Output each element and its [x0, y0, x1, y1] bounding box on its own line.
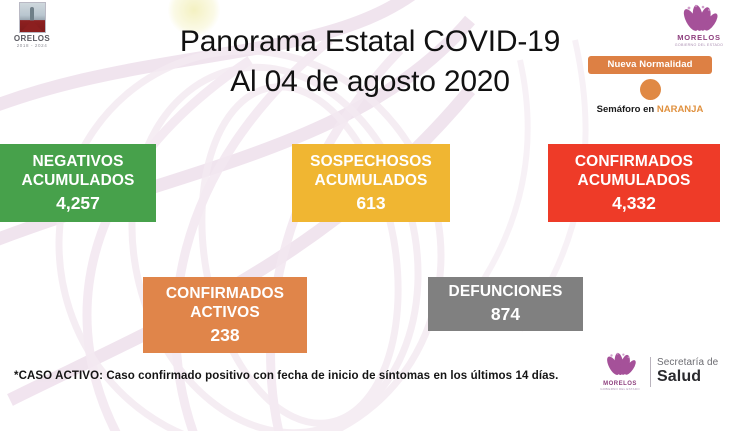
- semaforo-status-label: Semáforo en NARANJA: [588, 104, 712, 115]
- stat-card-confirmados-activos: CONFIRMADOS ACTIVOS 238: [143, 277, 307, 353]
- stat-value: 4,257: [56, 192, 100, 215]
- stat-card-negativos: NEGATIVOS ACUMULADOS 4,257: [0, 144, 156, 222]
- stat-label-line-1: CONFIRMADOS: [575, 152, 693, 171]
- secretaria-de-salud-logo: MORELOS GOBIERNO DEL ESTADO Secretaría d…: [596, 352, 718, 391]
- morelos-flower-logo-icon: [603, 352, 637, 376]
- semaforo-dot-icon: [640, 79, 661, 100]
- semaforo-color-value: NARANJA: [657, 104, 703, 115]
- stat-label-line-2: ACTIVOS: [190, 303, 260, 322]
- stat-card-sospechosos: SOSPECHOSOS ACUMULADOS 613: [292, 144, 450, 222]
- semaforo-prefix: Semáforo en: [597, 104, 655, 115]
- covid-dashboard-slide: ORELOS 2018 - 2024 MORELOS GOBIERNO DEL …: [0, 0, 740, 431]
- salud-line-1: Secretaría de: [657, 357, 718, 368]
- semaforo-widget: Nueva Normalidad Semáforo en NARANJA: [588, 56, 712, 115]
- stat-label-line-1: NEGATIVOS: [32, 152, 123, 171]
- nueva-normalidad-badge: Nueva Normalidad: [588, 56, 712, 74]
- stat-label-line-2: ACUMULADOS: [315, 171, 428, 190]
- stat-value: 613: [356, 192, 385, 215]
- stat-value: 4,332: [612, 192, 656, 215]
- logo-divider: [650, 357, 651, 387]
- stat-card-defunciones: DEFUNCIONES 874: [428, 277, 583, 331]
- stat-label-line-1: SOSPECHOSOS: [310, 152, 432, 171]
- salud-text-block: Secretaría de Salud: [657, 357, 718, 386]
- stat-label-line-1: DEFUNCIONES: [449, 282, 563, 301]
- stat-value: 238: [210, 324, 239, 347]
- salud-logo-subtitle: GOBIERNO DEL ESTADO: [596, 387, 644, 391]
- salud-morelos-mark: MORELOS GOBIERNO DEL ESTADO: [596, 352, 644, 391]
- stat-label-line-2: ACUMULADOS: [22, 171, 135, 190]
- stat-value: 874: [491, 303, 520, 326]
- stat-label-line-1: CONFIRMADOS: [166, 284, 284, 303]
- stat-card-confirmados-acumulados: CONFIRMADOS ACUMULADOS 4,332: [548, 144, 720, 222]
- salud-line-2: Salud: [657, 368, 718, 386]
- footnote-caso-activo: *CASO ACTIVO: Caso confirmado positivo c…: [14, 370, 558, 382]
- stat-label-line-2: ACUMULADOS: [578, 171, 691, 190]
